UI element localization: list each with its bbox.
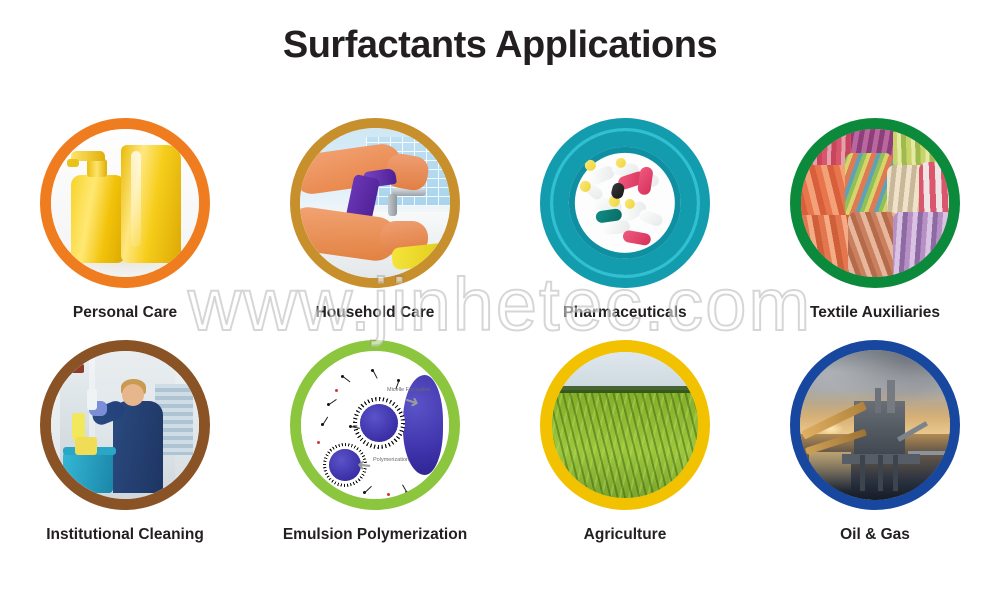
pump-spout-icon — [67, 159, 79, 167]
application-card-household-care[interactable]: Household Care — [250, 118, 500, 322]
pill-bowl — [569, 147, 681, 259]
application-card-institutional-cleaning[interactable]: Institutional Cleaning — [0, 340, 250, 544]
oil-and-gas-image — [800, 350, 950, 500]
agriculture-badge[interactable] — [540, 340, 710, 510]
application-label: Pharmaceuticals — [563, 304, 686, 322]
personal-care-badge[interactable] — [40, 118, 210, 288]
platform-leg — [860, 455, 865, 491]
household-care-image — [300, 128, 450, 278]
agriculture-image — [552, 352, 698, 498]
pill-icon — [585, 160, 596, 171]
platform-leg — [878, 455, 883, 491]
application-label: Personal Care — [73, 304, 177, 322]
applications-row-2: Institutional Cleaning Micelle Formation… — [0, 340, 1000, 544]
fabric-roll — [845, 153, 892, 218]
fabric-roll — [848, 212, 898, 277]
arrow-icon: ➜ — [356, 456, 372, 474]
application-label: Agriculture — [584, 526, 667, 544]
crop-field — [552, 393, 698, 498]
institutional-cleaning-badge[interactable] — [40, 340, 210, 510]
applications-row-1: Personal Care — [0, 118, 1000, 322]
pill-icon — [625, 199, 635, 209]
derrick-tower — [887, 380, 895, 413]
textile-auxiliaries-badge[interactable] — [790, 118, 960, 288]
application-card-textile-auxiliaries[interactable]: Textile Auxiliaries — [750, 118, 1000, 322]
oil-and-gas-badge[interactable] — [790, 340, 960, 510]
emulsion-polymerization-image: Micelle Formation Polymerization ➜ ➜ — [301, 351, 449, 499]
application-card-emulsion-polymerization[interactable]: Micelle Formation Polymerization ➜ ➜ — [250, 340, 500, 544]
worker-head — [122, 384, 144, 406]
pill-icon — [580, 181, 591, 192]
capsule-icon — [622, 230, 652, 247]
pump-neck-icon — [87, 159, 107, 177]
diagram-label-polymerization: Polymerization — [373, 457, 409, 463]
spray-bottle-icon — [87, 389, 97, 410]
shampoo-bottle-icon — [121, 145, 181, 263]
sponge-icon — [75, 437, 97, 455]
application-card-pharmaceuticals[interactable]: Pharmaceuticals — [500, 118, 750, 322]
cleaning-cart — [63, 452, 113, 493]
sky — [552, 352, 698, 390]
emulsion-polymerization-badge[interactable]: Micelle Formation Polymerization ➜ ➜ — [290, 340, 460, 510]
pharmaceuticals-badge[interactable] — [540, 118, 710, 288]
application-card-oil-and-gas[interactable]: Oil & Gas — [750, 340, 1000, 544]
cart-bottle-icon — [72, 413, 85, 440]
micelle-core — [360, 404, 398, 442]
page-title: Surfactants Applications — [0, 24, 1000, 67]
application-label: Oil & Gas — [840, 526, 910, 544]
textile-auxiliaries-image — [801, 129, 949, 277]
applications-grid: Personal Care — [0, 118, 1000, 544]
pump-bottle-icon — [71, 175, 125, 263]
pharmaceuticals-image — [553, 131, 697, 275]
application-card-personal-care[interactable]: Personal Care — [0, 118, 250, 322]
exit-sign — [64, 364, 83, 373]
institutional-cleaning-image — [51, 351, 199, 499]
infographic-canvas: Surfactants Applications Personal Care — [0, 0, 1000, 600]
application-card-agriculture[interactable]: Agriculture — [500, 340, 750, 544]
household-care-badge[interactable] — [290, 118, 460, 288]
fabric-roll — [893, 212, 949, 277]
pill-icon — [637, 208, 664, 228]
application-label: Textile Auxiliaries — [810, 304, 940, 322]
application-label: Institutional Cleaning — [46, 526, 204, 544]
personal-care-image — [51, 129, 199, 277]
platform-leg — [893, 455, 898, 491]
application-label: Household Care — [316, 304, 435, 322]
derrick-tower-secondary — [875, 388, 881, 414]
application-label: Emulsion Polymerization — [283, 526, 467, 544]
